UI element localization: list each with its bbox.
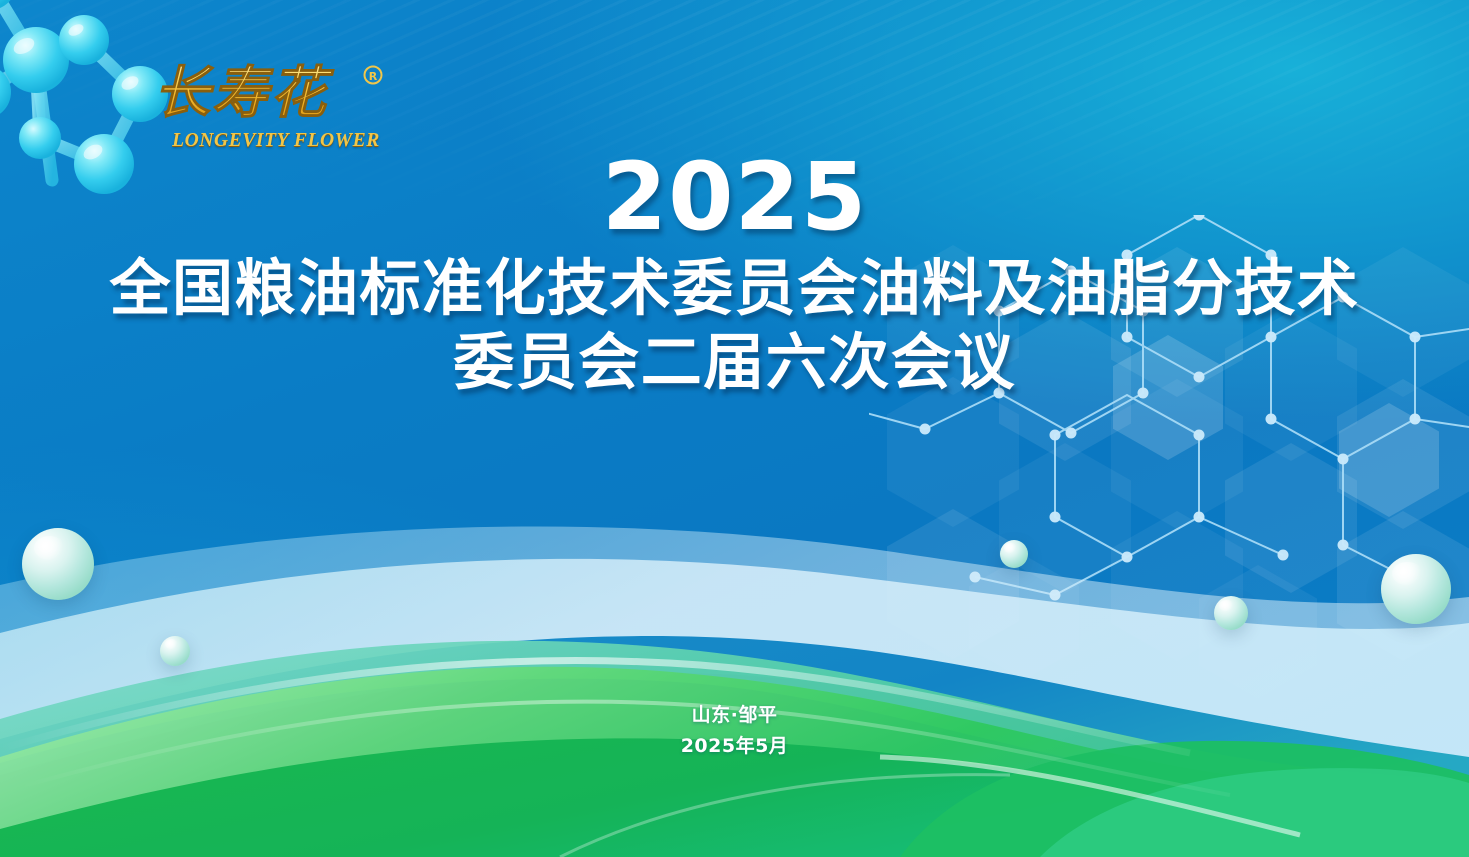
- event-meta: 山东·邹平 2025年5月: [0, 700, 1469, 762]
- event-location: 山东·邹平: [0, 700, 1469, 731]
- conference-backdrop: 长寿花 R LONGEVITY FLOWER 2025 全国粮油标准化技术委员会…: [0, 0, 1469, 857]
- logo-english-name: LONGEVITY FLOWER: [152, 130, 400, 152]
- event-date: 2025年5月: [0, 731, 1469, 762]
- brand-logo: 长寿花 R LONGEVITY FLOWER: [152, 60, 400, 152]
- svg-text:长寿花: 长寿花: [154, 61, 335, 126]
- logo-chinese-mark: 长寿花 R: [152, 60, 390, 128]
- glossy-sphere: [160, 636, 190, 666]
- glossy-sphere: [1214, 596, 1248, 630]
- wave-ribbon-graphic: [0, 457, 1469, 857]
- changshouhua-wordmark-icon: 长寿花 R: [152, 60, 390, 128]
- svg-text:R: R: [369, 70, 378, 83]
- glossy-sphere: [22, 528, 94, 600]
- glossy-sphere: [1000, 540, 1028, 568]
- glossy-sphere: [1381, 554, 1451, 624]
